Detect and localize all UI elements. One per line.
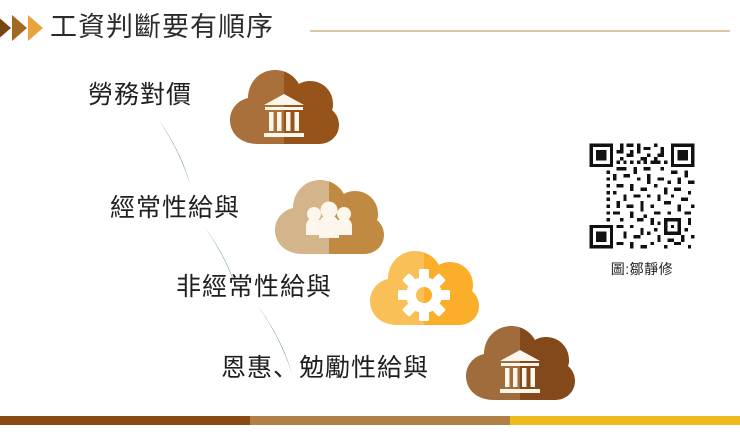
qr-block: 圖:鄒靜修	[586, 140, 698, 278]
page-title: 工資判斷要有順序	[50, 8, 274, 46]
flow-step-label-2: 經常性給與	[110, 193, 240, 223]
footer-segment-medium-brown	[250, 416, 510, 425]
flow-connector-arrow-1	[148, 112, 218, 190]
flow-step-label-1: 勞務對價	[88, 80, 192, 110]
qr-caption: 圖:鄒靜修	[586, 260, 698, 278]
title-bar: 工資判斷要有順序	[0, 6, 740, 48]
chevron-1-icon	[0, 15, 11, 41]
cloud-icon-gear-3	[368, 247, 480, 331]
footer-bar	[0, 416, 740, 425]
flow-step-label-4: 恩惠、勉勵性給與	[221, 353, 429, 383]
cloud-icon-bank-1	[228, 66, 340, 150]
footer-segment-gold	[510, 416, 740, 425]
title-underline-rule	[310, 30, 730, 32]
qr-code-icon	[586, 140, 698, 252]
footer-segment-dark-brown	[0, 416, 250, 425]
slide-canvas: 工資判斷要有順序 勞務對價	[0, 0, 740, 434]
cloud-icon-bank-4	[464, 322, 576, 406]
flow-step-label-3: 非經常性給與	[176, 272, 332, 302]
chevron-3-icon	[28, 15, 43, 41]
chevron-2-icon	[12, 15, 27, 41]
